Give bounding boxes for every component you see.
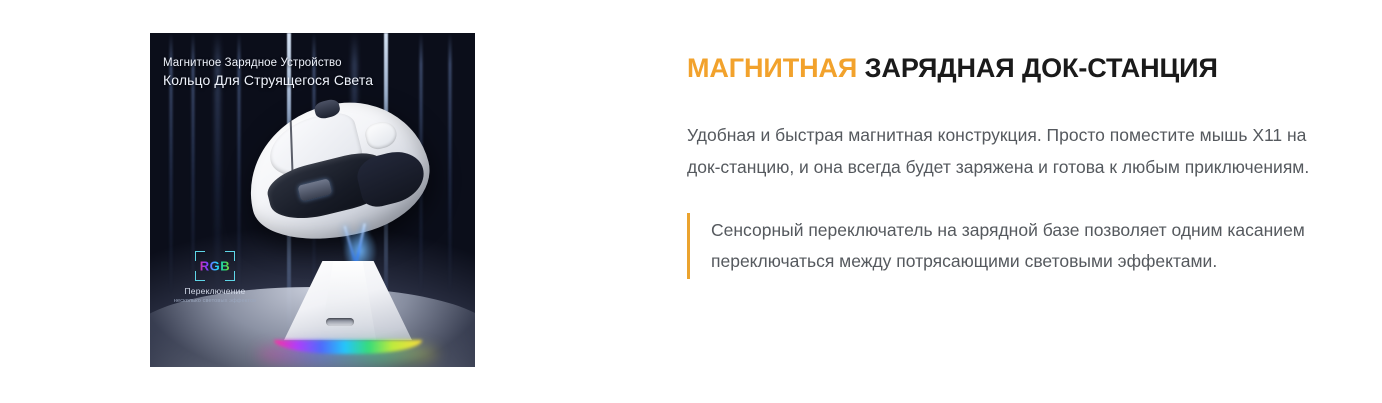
promo-section: Магнитное Зарядное Устройство Кольцо Для…	[0, 0, 1382, 403]
rgb-badge-label: Переключение	[163, 286, 267, 296]
usb-c-port-icon	[326, 318, 354, 326]
headline-accent-word: МАГНИТНАЯ	[687, 53, 857, 83]
highlight-quote: Сенсорный переключатель на зарядной базе…	[687, 213, 1331, 279]
light-beam	[449, 33, 451, 294]
product-photo: Магнитное Зарядное Устройство Кольцо Для…	[150, 33, 475, 367]
photo-caption-line-2: Кольцо Для Струящегося Света	[163, 71, 373, 89]
charging-dock-render	[284, 261, 412, 353]
photo-overlay-caption: Магнитное Зарядное Устройство Кольцо Для…	[163, 56, 373, 90]
rgb-badge-text: RGB	[195, 259, 235, 274]
rgb-mode-badge: RGB Переключение несколько световых эффе…	[163, 251, 267, 304]
rgb-badge-sublabel: несколько световых эффектов	[163, 298, 267, 304]
product-image-column: Магнитное Зарядное Устройство Кольцо Для…	[150, 33, 475, 367]
page-title: МАГНИТНАЯ ЗАРЯДНАЯ ДОК-СТАНЦИЯ	[687, 52, 1337, 84]
headline-rest: ЗАРЯДНАЯ ДОК-СТАНЦИЯ	[857, 53, 1218, 83]
copy-column: МАГНИТНАЯ ЗАРЯДНАЯ ДОК-СТАНЦИЯ Удобная и…	[687, 52, 1337, 279]
description-paragraph: Удобная и быстрая магнитная конструкция.…	[687, 120, 1327, 182]
photo-caption-line-1: Магнитное Зарядное Устройство	[163, 56, 373, 71]
rgb-bracket-frame-icon: RGB	[195, 251, 235, 281]
